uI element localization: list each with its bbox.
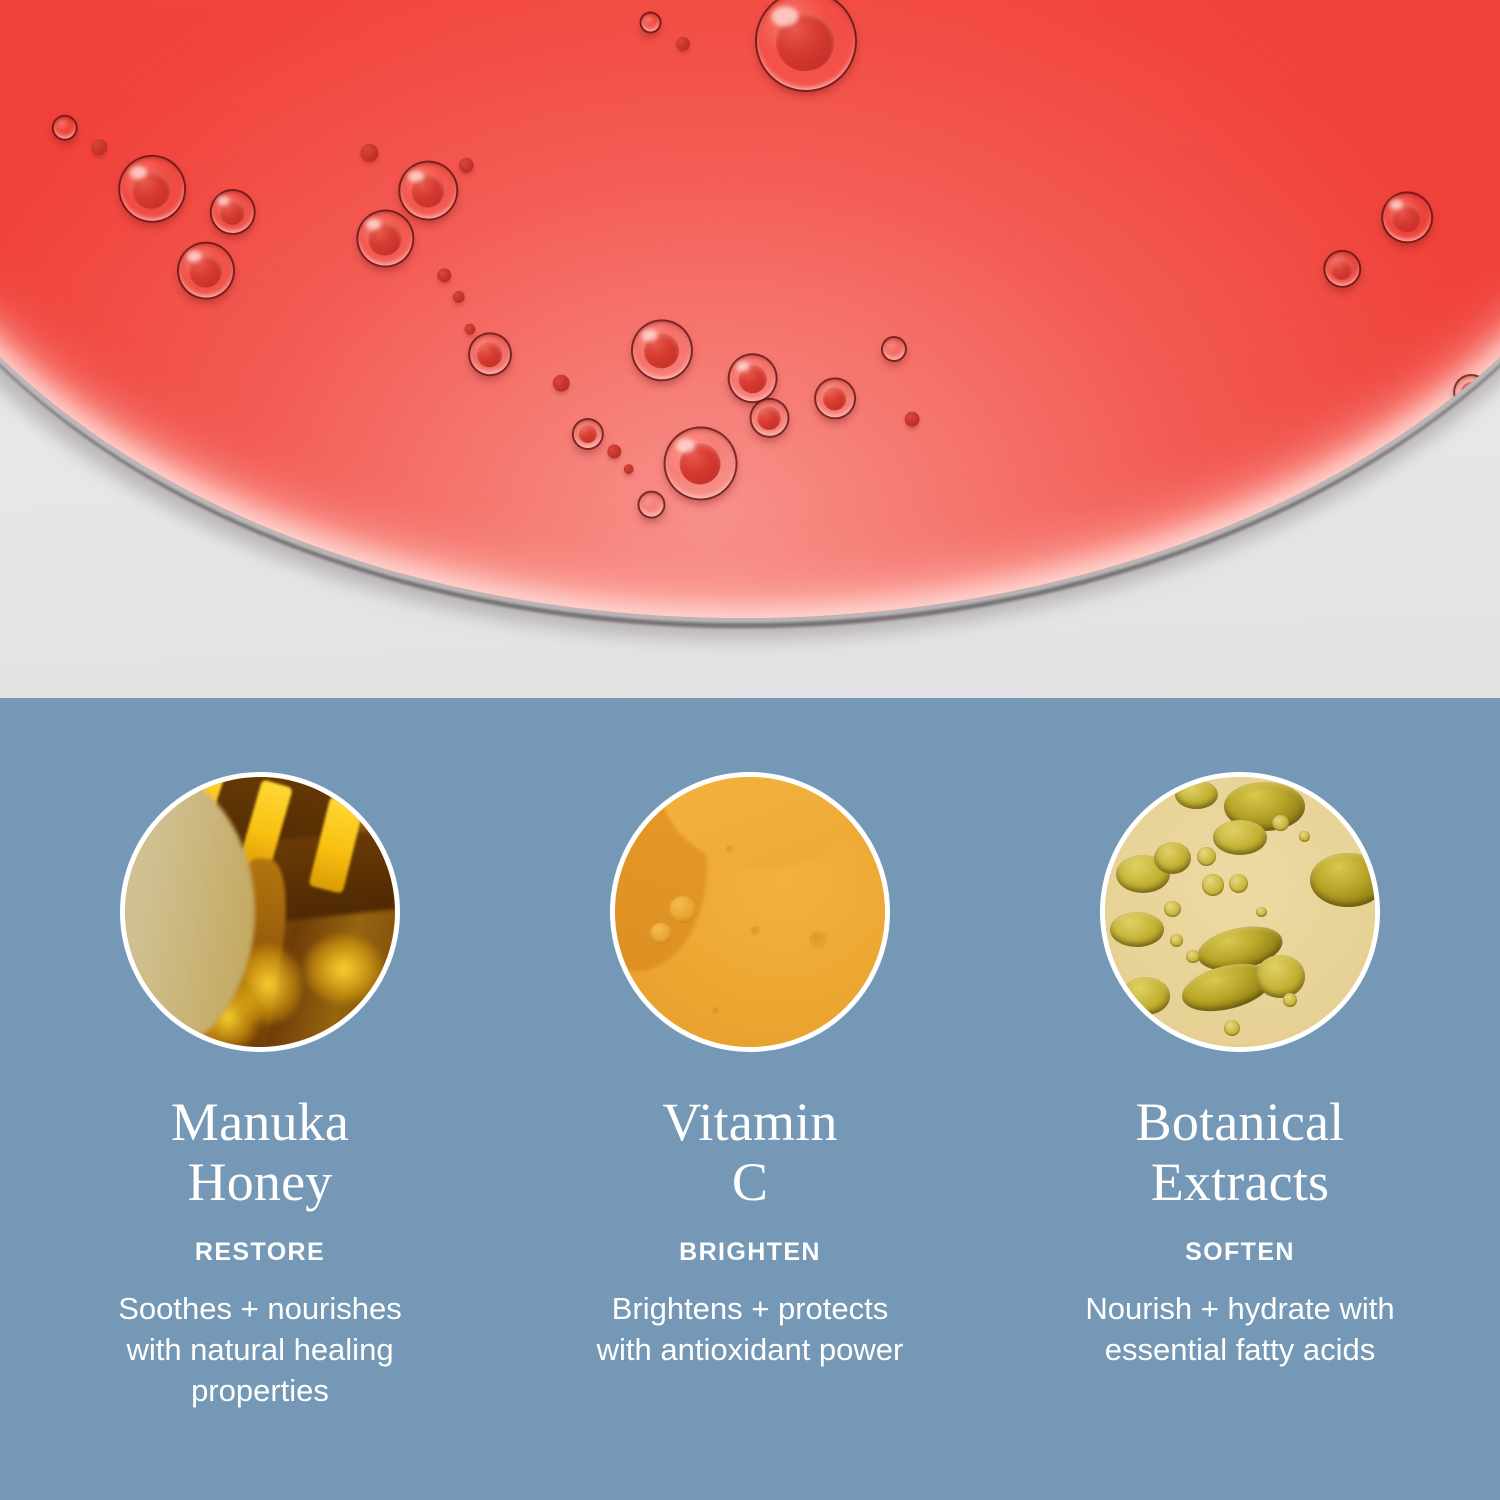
ingredient-columns: Manuka Honey RESTORE Soothes + nourishes… xyxy=(0,698,1500,1411)
serum-microdroplet xyxy=(552,374,569,391)
serum-microdroplet xyxy=(904,411,919,426)
product-ingredient-infographic: Manuka Honey RESTORE Soothes + nourishes… xyxy=(0,0,1500,1500)
manuka-honey-swatch xyxy=(120,772,400,1052)
serum-microdroplet xyxy=(464,323,475,334)
vitamin-c-swatch xyxy=(610,772,890,1052)
manuka-honey-texture xyxy=(125,777,395,1047)
ingredient-description: Brightens + protects with antioxidant po… xyxy=(585,1288,915,1370)
droplet-highlight xyxy=(676,438,696,452)
droplet-core xyxy=(758,407,781,430)
red-serum-hero-image xyxy=(0,0,1500,698)
ingredient-benefit-label: SOFTEN xyxy=(1185,1238,1295,1266)
ingredient-description: Nourish + hydrate with essential fatty a… xyxy=(1075,1288,1405,1370)
ingredient-title: Botanical Extracts xyxy=(1136,1092,1345,1212)
droplet-highlight xyxy=(641,329,657,341)
ingredient-column-botanical-extracts: Botanical Extracts SOFTEN Nourish + hydr… xyxy=(1070,772,1410,1411)
ingredient-title-line1: Vitamin xyxy=(662,1092,837,1152)
ingredient-title-line2: Honey xyxy=(188,1152,333,1212)
botanical-extracts-swatch xyxy=(1100,772,1380,1052)
botanical-extracts-texture xyxy=(1105,777,1375,1047)
vitamin-c-texture xyxy=(615,777,885,1047)
ingredient-title-line1: Botanical xyxy=(1136,1092,1345,1152)
red-serum-dish xyxy=(0,0,1500,639)
ingredient-benefit-label: BRIGHTEN xyxy=(679,1238,821,1266)
ingredient-title-line2: Extracts xyxy=(1151,1152,1330,1212)
ingredient-title-line2: C xyxy=(732,1152,768,1212)
droplet-highlight xyxy=(129,166,147,179)
serum-droplet xyxy=(1453,374,1490,411)
ingredient-band: Manuka Honey RESTORE Soothes + nourishes… xyxy=(0,698,1500,1500)
ingredient-title: Manuka Honey xyxy=(171,1092,349,1212)
ingredient-title: Vitamin C xyxy=(662,1092,837,1212)
droplet-highlight xyxy=(772,6,799,26)
droplet-core xyxy=(477,342,502,367)
droplet-highlight xyxy=(736,361,749,371)
droplet-highlight xyxy=(408,170,424,182)
dish-rim-highlight xyxy=(0,0,1500,639)
ingredient-benefit-label: RESTORE xyxy=(195,1238,325,1266)
ingredient-column-vitamin-c: Vitamin C BRIGHTEN Brightens + protects … xyxy=(580,772,920,1411)
ingredient-title-line1: Manuka xyxy=(171,1092,349,1152)
serum-microdroplet xyxy=(458,157,473,172)
ingredient-column-manuka-honey: Manuka Honey RESTORE Soothes + nourishes… xyxy=(90,772,430,1411)
ingredient-description: Soothes + nourishes with natural healing… xyxy=(95,1288,425,1411)
